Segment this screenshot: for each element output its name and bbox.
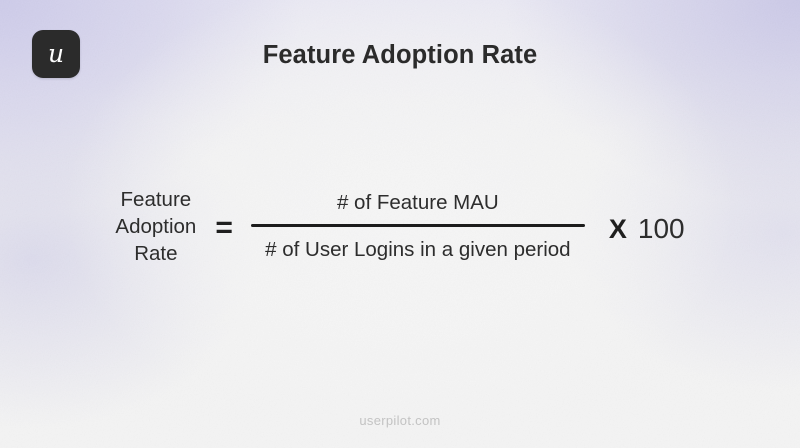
infographic-canvas: u Feature Adoption Rate Feature Adoption… [0, 0, 800, 448]
multiply-value: 100 [638, 215, 685, 243]
formula-left-label-line-2: Adoption [115, 213, 196, 240]
footer-attribution: userpilot.com [0, 413, 800, 428]
formula-left-label-line-1: Feature [115, 186, 196, 213]
fraction: # of Feature MAU # of User Logins in a g… [249, 193, 587, 261]
equals-sign: = [215, 213, 233, 243]
fraction-numerator: # of Feature MAU [337, 193, 499, 225]
multiply-sign: X [609, 216, 627, 243]
formula-left-label: Feature Adoption Rate [115, 186, 196, 267]
multiplier: X 100 [609, 215, 685, 243]
formula-container: Feature Adoption Rate = # of Feature MAU… [0, 186, 800, 267]
fraction-denominator: # of User Logins in a given period [265, 227, 570, 261]
page-title: Feature Adoption Rate [0, 41, 800, 70]
formula-left-label-line-3: Rate [115, 240, 196, 267]
